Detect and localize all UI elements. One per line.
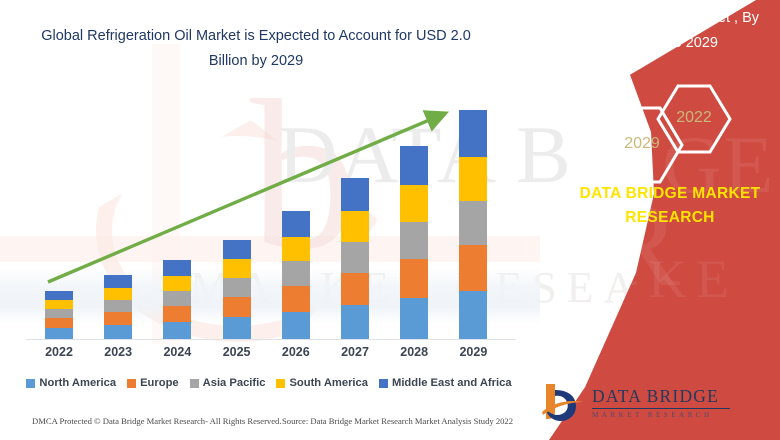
bar-segment bbox=[45, 291, 73, 300]
x-axis-labels: 20222023202420252026202720282029 bbox=[0, 345, 540, 367]
bar-segment bbox=[104, 275, 132, 288]
bar-segment bbox=[223, 317, 251, 339]
legend-label: South America bbox=[289, 377, 368, 389]
bar-column bbox=[400, 146, 428, 339]
logo-title: DATA BRIDGE bbox=[592, 386, 730, 407]
bar-column bbox=[341, 178, 369, 339]
bar-segment bbox=[341, 305, 369, 339]
logo-wordmark: DATA BRIDGE MARKET RESEARCH bbox=[592, 386, 730, 419]
legend-label: Europe bbox=[140, 377, 179, 389]
bar-segment bbox=[45, 300, 73, 309]
bar-segment bbox=[341, 211, 369, 242]
panel-brand-line-2: RESEARCH bbox=[625, 209, 714, 226]
bar-column bbox=[223, 240, 251, 339]
bar-segment bbox=[223, 297, 251, 317]
panel-title: Global Refrigeration Oil Market , By Reg… bbox=[520, 6, 770, 56]
bar-segment bbox=[400, 259, 428, 298]
logo-mark-icon bbox=[540, 382, 586, 424]
bar-segment bbox=[45, 328, 73, 339]
x-axis-tick-label: 2026 bbox=[266, 345, 326, 359]
x-axis-tick-label: 2022 bbox=[29, 345, 89, 359]
bar-column bbox=[163, 260, 191, 339]
bar-segment bbox=[223, 240, 251, 259]
x-axis-tick-label: 2024 bbox=[147, 345, 207, 359]
footer-source: Source: Data Bridge Market Research Mark… bbox=[282, 416, 513, 426]
bar-segment bbox=[341, 242, 369, 273]
bar-column bbox=[104, 275, 132, 339]
bar-segment bbox=[104, 312, 132, 325]
bar-column bbox=[45, 291, 73, 339]
footer: DMCA Protected © Data Bridge Market Rese… bbox=[0, 416, 540, 436]
legend-item: Asia Pacific bbox=[190, 377, 266, 389]
panel-brand-name: DATA BRIDGE MARKET RESEARCH bbox=[570, 182, 770, 230]
legend-swatch-icon bbox=[379, 379, 388, 388]
legend-swatch-icon bbox=[127, 379, 136, 388]
bar-segment bbox=[163, 260, 191, 276]
bar-segment bbox=[282, 211, 310, 237]
bar-column bbox=[282, 211, 310, 339]
bar-segment bbox=[104, 300, 132, 312]
bar-segment bbox=[400, 298, 428, 339]
bar-segment bbox=[163, 306, 191, 322]
legend-swatch-icon bbox=[190, 379, 199, 388]
bar-segment bbox=[341, 178, 369, 211]
bar-segment bbox=[459, 291, 487, 339]
bar-segment bbox=[223, 259, 251, 278]
legend-swatch-icon bbox=[276, 379, 285, 388]
footer-copyright: DMCA Protected © Data Bridge Market Rese… bbox=[32, 416, 282, 426]
bar-segment bbox=[400, 185, 428, 222]
bar-segment bbox=[459, 245, 487, 291]
bar-segment bbox=[282, 261, 310, 286]
bar-segment bbox=[341, 273, 369, 305]
legend-item: North America bbox=[26, 377, 116, 389]
bar-segment bbox=[400, 146, 428, 185]
logo-tagline: MARKET RESEARCH bbox=[592, 411, 730, 419]
bar-segment bbox=[45, 309, 73, 318]
bar-segment bbox=[163, 322, 191, 339]
bar-segment bbox=[104, 288, 132, 300]
bar-segment bbox=[163, 276, 191, 291]
x-axis-tick-label: 2028 bbox=[384, 345, 444, 359]
legend-item: South America bbox=[276, 377, 368, 389]
x-axis-tick-label: 2023 bbox=[88, 345, 148, 359]
bar-segment bbox=[104, 325, 132, 339]
bar-segment bbox=[459, 110, 487, 157]
legend-label: Middle East and Africa bbox=[392, 377, 512, 389]
legend-label: North America bbox=[39, 377, 116, 389]
bar-segment bbox=[282, 312, 310, 339]
bar-segment bbox=[45, 318, 73, 328]
legend-item: Europe bbox=[127, 377, 179, 389]
legend-item: Middle East and Africa bbox=[379, 377, 512, 389]
x-axis-tick-label: 2027 bbox=[325, 345, 385, 359]
x-axis-tick-label: 2029 bbox=[443, 345, 503, 359]
logo-divider bbox=[592, 408, 730, 409]
bar-segment bbox=[459, 201, 487, 245]
bar-segment bbox=[223, 278, 251, 297]
hexagon-2029: 2029 bbox=[598, 106, 686, 184]
infographic-canvas: b DATA B MARKET RESEARCH Global Refriger… bbox=[0, 0, 780, 440]
hexagon-2029-label: 2029 bbox=[598, 135, 686, 153]
bar-segment bbox=[400, 222, 428, 259]
chart-legend: North AmericaEuropeAsia PacificSouth Ame… bbox=[14, 374, 524, 392]
x-axis-tick-label: 2025 bbox=[207, 345, 267, 359]
bar-segment bbox=[459, 157, 487, 201]
hexagon-badges: 2022 2029 bbox=[598, 84, 748, 176]
legend-swatch-icon bbox=[26, 379, 35, 388]
panel-brand-line-1: DATA BRIDGE MARKET bbox=[580, 185, 761, 202]
bar-segment bbox=[282, 237, 310, 261]
bar-segment bbox=[282, 286, 310, 312]
bar-column bbox=[459, 110, 487, 339]
legend-label: Asia Pacific bbox=[203, 377, 266, 389]
bar-segment bbox=[163, 291, 191, 306]
data-bridge-logo: DATA BRIDGE MARKET RESEARCH bbox=[540, 382, 740, 426]
